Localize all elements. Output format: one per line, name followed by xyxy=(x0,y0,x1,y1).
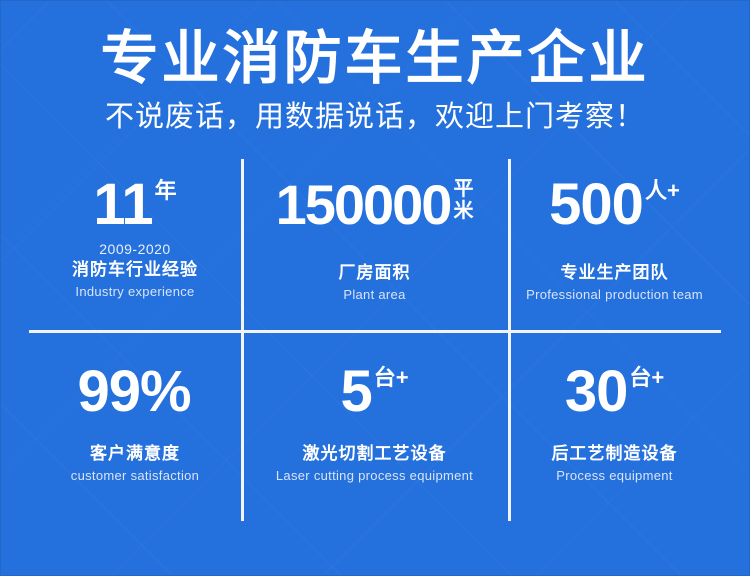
stat-number: 150000 xyxy=(276,176,451,234)
stat-cell-production-team: 500 人+ 专业生产团队 Professional production te… xyxy=(508,159,721,340)
stat-number: 99% xyxy=(77,363,190,421)
stat-cell-plant-area: 150000 平 米 厂房面积 Plant area xyxy=(241,159,508,340)
stat-number: 30 xyxy=(565,363,628,421)
stat-value-line: 30 台+ xyxy=(565,363,664,421)
stat-label-cn: 后工艺制造设备 xyxy=(552,443,678,465)
stat-unit: 年 xyxy=(155,176,177,203)
stat-label-cn: 厂房面积 xyxy=(339,262,411,284)
stat-value-line: 11 年 xyxy=(93,176,176,234)
stat-label-en: Laser cutting process equipment xyxy=(276,467,473,485)
stat-label-en: Industry experience xyxy=(75,283,194,301)
promo-banner: 专业消防车生产企业 不说废话，用数据说话，欢迎上门考察！ 11 年 2009-2 xyxy=(0,0,750,576)
stat-label-en: customer satisfaction xyxy=(71,467,199,485)
stats-row-top: 11 年 2009-2020 消防车行业经验 Industry experien… xyxy=(29,159,721,340)
stat-number: 5 xyxy=(340,363,371,421)
stat-label-cn: 客户满意度 xyxy=(90,443,180,465)
stat-value-line: 150000 平 米 xyxy=(276,176,474,234)
stat-label-en: Process equipment xyxy=(556,467,672,485)
stats-row-bottom: 99% 客户满意度 customer satisfaction 5 台+ 激光切… xyxy=(29,340,721,521)
stats-rows: 11 年 2009-2020 消防车行业经验 Industry experien… xyxy=(29,159,721,521)
stat-value-line: 500 人+ xyxy=(549,176,680,234)
stat-label-cn: 消防车行业经验 xyxy=(72,259,198,281)
page-subtitle: 不说废话，用数据说话，欢迎上门考察！ xyxy=(1,97,749,137)
stat-unit: 台+ xyxy=(374,363,409,390)
stat-label-cn: 专业生产团队 xyxy=(561,262,669,284)
stat-cell-process-equipment: 30 台+ 后工艺制造设备 Process equipment xyxy=(508,340,721,521)
stat-number: 11 xyxy=(93,176,152,234)
stat-label-cn: 激光切割工艺设备 xyxy=(303,443,447,465)
page-title: 专业消防车生产企业 xyxy=(1,27,749,91)
stat-value-line: 5 台+ xyxy=(340,363,408,421)
stat-subvalue: 2009-2020 xyxy=(99,240,170,258)
banner-content: 专业消防车生产企业 不说废话，用数据说话，欢迎上门考察！ 11 年 2009-2 xyxy=(1,1,749,575)
stat-label-en: Plant area xyxy=(343,286,405,304)
stat-value-line: 99% xyxy=(77,363,192,421)
stat-unit: 平 米 xyxy=(453,176,473,222)
stat-unit: 台+ xyxy=(629,363,664,390)
stats-grid: 11 年 2009-2020 消防车行业经验 Industry experien… xyxy=(29,159,721,521)
stat-number: 500 xyxy=(549,176,643,234)
stat-unit-top: 平 xyxy=(453,178,473,200)
stat-unit: 人+ xyxy=(645,176,680,203)
stat-unit-bottom: 米 xyxy=(453,200,473,222)
stat-cell-laser-cutting-equipment: 5 台+ 激光切割工艺设备 Laser cutting process equi… xyxy=(241,340,508,521)
stat-cell-industry-experience: 11 年 2009-2020 消防车行业经验 Industry experien… xyxy=(29,159,241,340)
stat-cell-customer-satisfaction: 99% 客户满意度 customer satisfaction xyxy=(29,340,241,521)
banner-header: 专业消防车生产企业 不说废话，用数据说话，欢迎上门考察！ xyxy=(1,1,749,137)
stat-label-en: Professional production team xyxy=(526,286,703,304)
